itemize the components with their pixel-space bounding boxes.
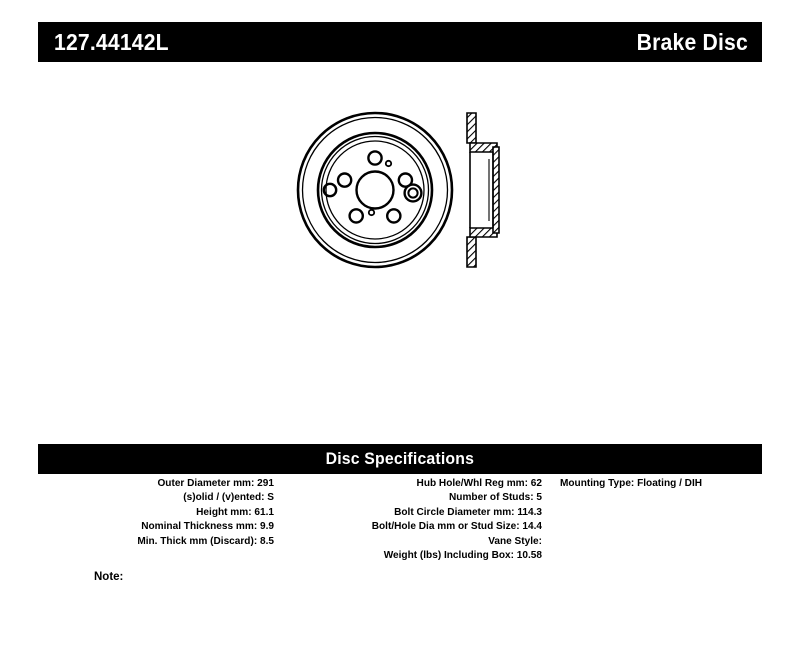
note-label: Note:: [94, 571, 123, 583]
spec-row: Weight (lbs) Including Box: 10.58: [298, 548, 542, 562]
spec-row: Height mm: 61.1: [47, 505, 274, 519]
brake-disc-drawing-svg: [0, 75, 800, 405]
part-number: 127.44142L: [54, 29, 169, 56]
spec-row: Bolt Circle Diameter mm: 114.3: [298, 505, 542, 519]
header-bar: 127.44142L Brake Disc: [38, 22, 762, 62]
brake-disc-face-view: [298, 113, 452, 267]
spec-section-title: Disc Specifications: [326, 449, 475, 469]
pin-hole-lower: [369, 210, 374, 215]
spec-column-left: Outer Diameter mm: 291 (s)olid / (v)ente…: [38, 476, 288, 548]
threaded-jacking-hole: [405, 185, 422, 202]
spec-row: Outer Diameter mm: 291: [47, 476, 274, 490]
spec-column-middle: Hub Hole/Whl Reg mm: 62 Number of Studs:…: [288, 476, 548, 562]
spec-column-right: Mounting Type: Floating / DIH: [548, 476, 762, 490]
product-spec-sheet: 127.44142L Brake Disc: [0, 0, 800, 655]
spec-row: Vane Style:: [298, 534, 542, 548]
spec-row: Mounting Type: Floating / DIH: [560, 476, 754, 490]
spec-row: Nominal Thickness mm: 9.9: [47, 519, 274, 533]
brake-disc-section-view: [467, 113, 499, 267]
spec-row: (s)olid / (v)ented: S: [47, 490, 274, 504]
pin-hole-upper: [386, 161, 391, 166]
spec-columns: Outer Diameter mm: 291 (s)olid / (v)ente…: [38, 476, 762, 562]
spec-row: Hub Hole/Whl Reg mm: 62: [298, 476, 542, 490]
spec-row: Number of Studs: 5: [298, 490, 542, 504]
spec-section-header: Disc Specifications: [38, 444, 762, 474]
technical-drawing: [0, 75, 800, 405]
spec-row: Bolt/Hole Dia mm or Stud Size: 14.4: [298, 519, 542, 533]
product-type-title: Brake Disc: [637, 29, 748, 56]
spec-row: Min. Thick mm (Discard): 8.5: [47, 534, 274, 548]
